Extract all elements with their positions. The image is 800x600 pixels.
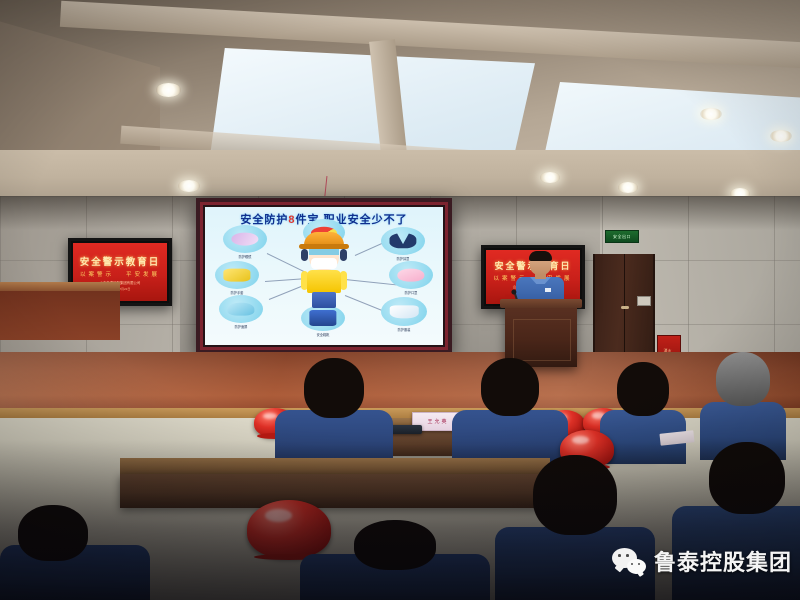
left-display-headline: 安全警示教育日	[80, 254, 161, 268]
ppe-label: 防护服装	[398, 327, 411, 332]
slide-title-number: 8	[288, 214, 295, 226]
wall-outlet	[637, 296, 651, 306]
slide-connector	[345, 279, 397, 285]
name-placard-text: 王允英	[427, 418, 448, 425]
audience-head	[709, 442, 785, 514]
wechat-icon	[612, 548, 646, 574]
door-handle-icon[interactable]	[621, 306, 629, 309]
stage-head-table	[0, 282, 120, 340]
speaker-badge	[545, 288, 551, 292]
watermark-text: 鲁泰控股集团	[654, 545, 792, 577]
ppe-item: 防护手套	[215, 261, 259, 289]
audience-head	[481, 358, 539, 416]
audience-desk-front	[120, 474, 550, 508]
ppe-worker-figure	[296, 232, 352, 308]
earmuff-icon	[301, 249, 308, 261]
audience-member	[452, 358, 568, 468]
left-display-subtitle-b: 平安发展	[126, 270, 160, 278]
audience-head	[716, 352, 770, 406]
conference-hall-photo: 安全出口 消火栓 安全警示教育日 以案警示 平安发展 山东鲁泰控股集团有限公司 …	[0, 0, 800, 600]
ppe-label: 安全鞋靴	[317, 332, 330, 337]
hall-door[interactable]	[593, 254, 655, 362]
exit-sign: 安全出口	[605, 230, 639, 243]
worker-trousers	[312, 292, 336, 308]
audience-member	[495, 455, 655, 600]
worker-shirt	[307, 270, 341, 293]
worker-arm	[340, 271, 347, 290]
ceiling-downlight	[618, 182, 638, 193]
ppe-label: 防护眼镜	[239, 254, 252, 259]
speaker-hair	[529, 251, 552, 261]
ppe-item: 防护服装	[381, 297, 427, 326]
goggles-icon	[309, 249, 339, 255]
ppe-item: 安全鞋靴	[301, 305, 345, 331]
head-table-top	[0, 282, 120, 291]
ppe-item: 防护口罩	[389, 261, 433, 289]
audience-head	[354, 520, 436, 570]
audience-member	[275, 358, 393, 468]
watermark: 鲁泰控股集团	[612, 545, 792, 577]
ppe-item: 防护面屏	[219, 295, 263, 323]
exit-sign-label: 安全出口	[613, 234, 631, 240]
audience-head	[617, 362, 669, 416]
audience-head	[304, 358, 364, 418]
podium-front-panel	[513, 319, 571, 361]
ceiling-downlight	[540, 172, 560, 183]
audience-head	[533, 455, 617, 535]
left-display-subtitle-a: 以案警示	[80, 270, 114, 278]
mask-icon	[311, 258, 337, 269]
podium-top	[500, 299, 582, 308]
ceiling-downlight	[770, 130, 792, 142]
ceiling-downlight	[156, 83, 181, 97]
ppe-item: 防护眼镜	[223, 225, 267, 253]
ceiling-downlight	[178, 180, 200, 192]
ppe-label: 防护口罩	[405, 290, 418, 295]
audience-member	[300, 520, 490, 600]
earmuff-icon	[340, 249, 347, 261]
audience-head	[18, 505, 88, 561]
ceiling-downlight	[700, 108, 722, 120]
main-led-display: 安全防护8件宝 职业安全少不了 防护眼镜 安全帽 防护耳罩	[196, 198, 452, 354]
audience-member	[0, 505, 150, 600]
ppe-slide: 安全防护8件宝 职业安全少不了 防护眼镜 安全帽 防护耳罩	[205, 207, 443, 345]
helmet-brim	[299, 244, 349, 249]
ppe-label: 防护面屏	[235, 324, 248, 329]
ppe-item: 防护耳罩	[381, 227, 425, 255]
